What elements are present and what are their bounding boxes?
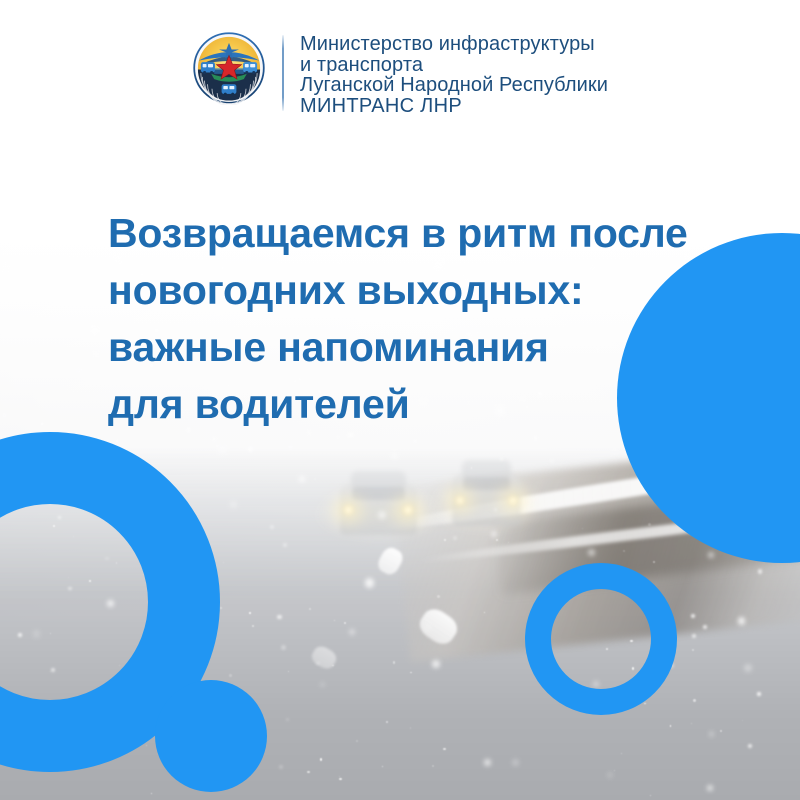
headline-line-3: важные напоминания <box>108 319 768 376</box>
car-right <box>452 474 521 527</box>
org-line-1: Министерство инфраструктуры <box>300 34 608 55</box>
headlight-left-icon <box>342 504 355 515</box>
car-windshield <box>352 487 404 500</box>
org-line-2: и транспорта <box>300 55 608 76</box>
headline-line-1: Возвращаемся в ритм после <box>108 205 768 262</box>
page-title: Возвращаемся в ритм после новогодних вых… <box>108 205 768 433</box>
headlight-right-icon <box>401 504 414 515</box>
headlight-right-icon <box>507 495 519 507</box>
header-divider <box>282 35 284 111</box>
org-line-4: МИНТРАНС ЛНР <box>300 96 608 117</box>
headline-line-2: новогодних выходных: <box>108 262 768 319</box>
header: Министерство инфраструктуры и транспорта… <box>0 0 800 140</box>
car-left <box>340 484 417 535</box>
headline-line-4: для водителей <box>108 376 768 433</box>
decor-circle-small-left <box>155 680 267 792</box>
decor-ring-bottom-right <box>525 563 677 715</box>
headlight-left-icon <box>454 495 466 507</box>
ministry-emblem-icon <box>192 31 266 105</box>
social-card: Министерство инфраструктуры и транспорта… <box>0 0 800 800</box>
organization-name: Министерство инфраструктуры и транспорта… <box>300 31 608 116</box>
car-windshield <box>463 477 510 491</box>
org-line-3: Луганской Народной Республики <box>300 75 608 96</box>
